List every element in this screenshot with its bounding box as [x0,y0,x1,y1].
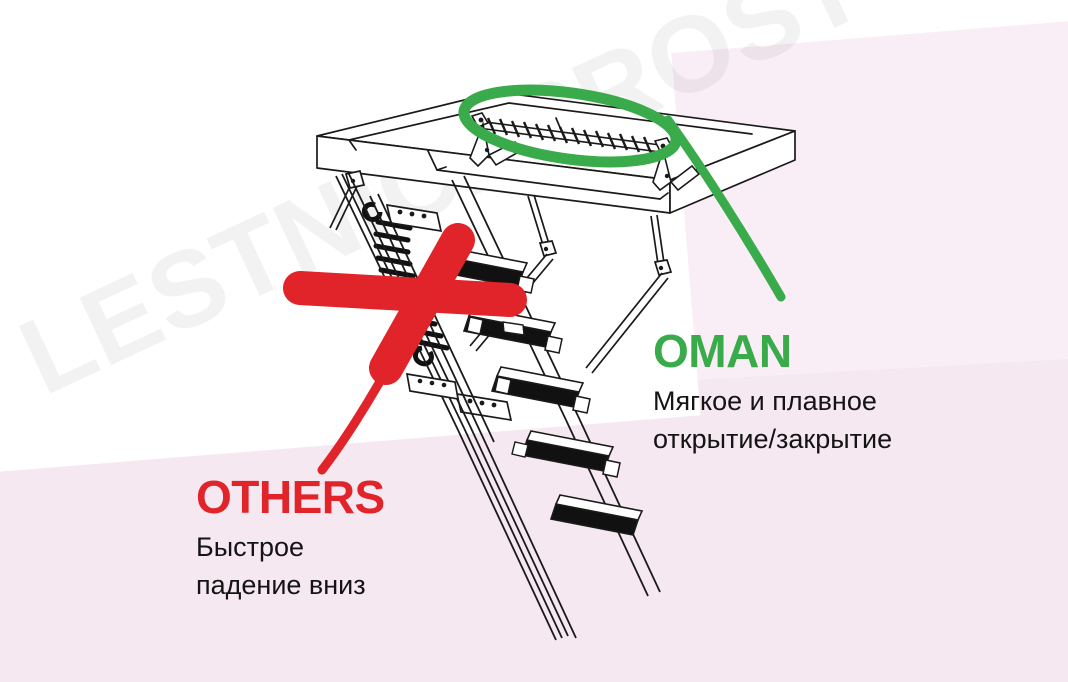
oman-description-line-2: открытие/закрытие [653,420,892,458]
others-description: Быстрое падение вниз [196,528,385,605]
callout-oman: OMAN Мягкое и плавное открытие/закрытие [653,328,892,459]
illustration-canvas: LESTNICI-PROSTO.RU [0,0,1068,682]
oman-description: Мягкое и плавное открытие/закрытие [653,382,892,459]
loft-ladder-drawing [0,0,1068,682]
oman-description-line-1: Мягкое и плавное [653,382,892,420]
callout-others: OTHERS Быстрое падение вниз [196,474,385,605]
others-title: OTHERS [196,474,385,520]
oman-title: OMAN [653,328,892,374]
others-description-line-2: падение вниз [196,566,385,604]
others-description-line-1: Быстрое [196,528,385,566]
